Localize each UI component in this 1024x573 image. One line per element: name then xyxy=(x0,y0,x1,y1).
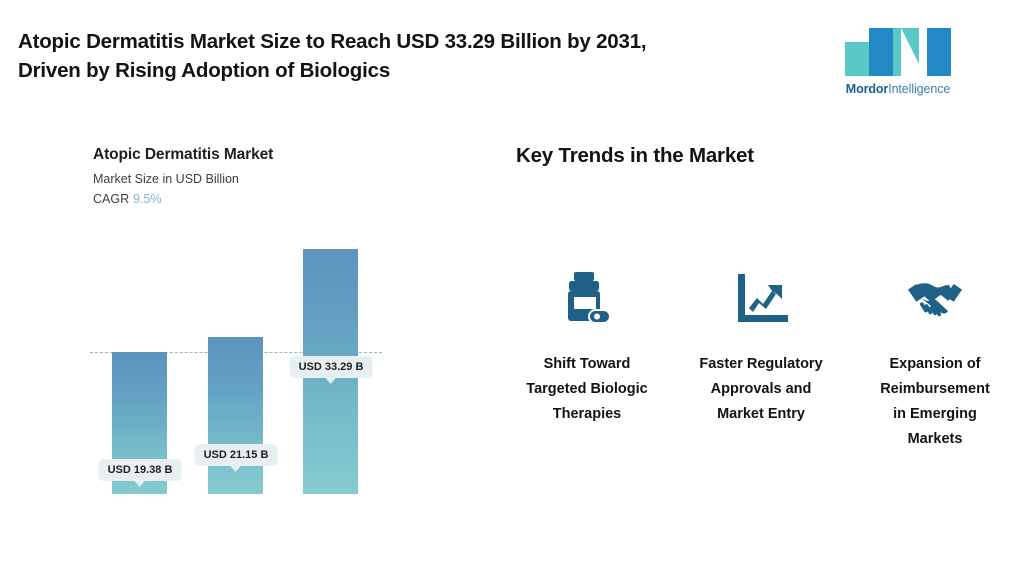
page-title-line-2: Driven by Rising Adoption of Biologics xyxy=(18,56,818,85)
trend-label-regulatory-approvals: Faster Regulatory Approvals and Market E… xyxy=(699,352,823,427)
trend-card-regulatory-approvals: Faster Regulatory Approvals and Market E… xyxy=(674,270,848,452)
trend-card-biologic-therapies: Shift Toward Targeted Biologic Therapies xyxy=(500,270,674,452)
trend-label-reimbursement-expansion: Expansion of Reimbursement in Emerging M… xyxy=(873,352,997,452)
bar-value-label-2031: USD 33.29 B xyxy=(290,356,373,378)
page-title-line-1: Atopic Dermatitis Market Size to Reach U… xyxy=(18,30,646,53)
logo-product-text: Intelligence xyxy=(888,82,950,96)
trend-card-row: Shift Toward Targeted Biologic Therapies… xyxy=(500,270,1024,452)
bar-value-label-2026: USD 21.15 B xyxy=(195,444,278,466)
infographic-page: Atopic Dermatitis Market Size to Reach U… xyxy=(0,0,1024,573)
trend-card-reimbursement-expansion: Expansion of Reimbursement in Emerging M… xyxy=(848,270,1022,452)
logo-brand-text: Mordor xyxy=(846,82,888,96)
logo-wordmark: MordorIntelligence xyxy=(843,82,953,96)
medicine-bottle-icon xyxy=(559,270,615,326)
handshake-icon xyxy=(907,270,963,326)
mi-logo-mark xyxy=(843,26,953,78)
page-title: Atopic Dermatitis Market Size to Reach U… xyxy=(18,27,818,85)
key-trends-panel: Key Trends in the Market Shift Toward Ta… xyxy=(500,130,1024,573)
chart-plot-area: USD 19.38 B USD 21.15 B USD 33.29 B 2025… xyxy=(0,130,420,573)
bar-value-label-2025: USD 19.38 B xyxy=(99,459,182,481)
trend-label-biologic-therapies: Shift Toward Targeted Biologic Therapies xyxy=(525,352,649,427)
growth-chart-icon xyxy=(733,270,789,326)
mordor-intelligence-logo: MordorIntelligence xyxy=(843,26,953,101)
key-trends-heading: Key Trends in the Market xyxy=(516,144,754,168)
market-size-chart: Atopic Dermatitis Market Market Size in … xyxy=(0,130,420,573)
